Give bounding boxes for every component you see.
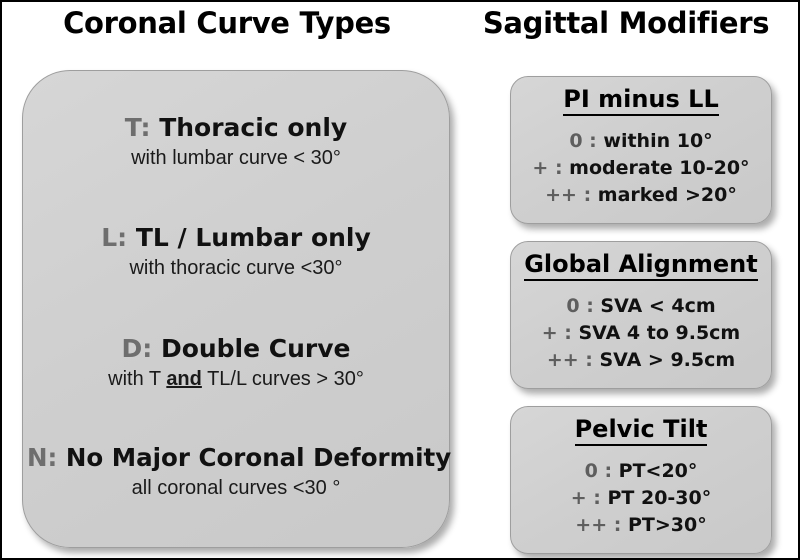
modifier-separator: : <box>583 130 604 152</box>
modifier-grade-value: PT 20-30° <box>607 487 711 509</box>
coronal-curve-item: D: Double Curve with T and TL/L curves >… <box>27 335 445 391</box>
coronal-curve-subtitle-pre: with thoracic curve <30° <box>129 257 342 279</box>
modifier-grade-value: SVA 4 to 9.5cm <box>579 322 741 344</box>
sagittal-modifier-row: ++ : PT>30° <box>517 512 765 539</box>
modifier-grade-value: marked >20° <box>598 184 737 206</box>
modifier-grade-value: PT>30° <box>628 514 707 536</box>
modifier-grade-value: moderate 10-20° <box>569 157 749 179</box>
coronal-curve-title: D: Double Curve <box>27 335 445 362</box>
modifier-separator: : <box>598 460 619 482</box>
coronal-curve-subtitle: with T and TL/L curves > 30° <box>27 369 445 391</box>
coronal-curve-name: Double Curve <box>161 334 351 363</box>
sagittal-modifier-row: + : PT 20-30° <box>517 485 765 512</box>
coronal-curve-subtitle-pre: with lumbar curve < 30° <box>131 147 341 169</box>
coronal-curve-subtitle-emphasis: and <box>166 368 202 390</box>
sagittal-modifier-title: PI minus LL <box>563 85 719 116</box>
coronal-curve-subtitle-post: TL/L curves > 30° <box>202 368 364 390</box>
coronal-curve-item: L: TL / Lumbar only with thoracic curve … <box>27 224 445 280</box>
sagittal-modifier-card-pi-minus-ll: PI minus LL 0 : within 10° + : moderate … <box>510 76 772 224</box>
modifier-separator: : <box>558 322 579 344</box>
modifier-grade-key: ++ <box>545 184 577 206</box>
modifier-grade-key: ++ <box>547 349 579 371</box>
sagittal-modifier-row: + : SVA 4 to 9.5cm <box>517 320 765 347</box>
coronal-curve-subtitle-pre: all coronal curves <30 ° <box>132 477 341 499</box>
modifier-grade-value: within 10° <box>603 130 712 152</box>
coronal-curve-item: N: No Major Coronal Deformity all corona… <box>27 445 445 500</box>
coronal-curve-subtitle: with thoracic curve <30° <box>27 258 445 280</box>
coronal-curve-prefix: D: <box>121 334 152 363</box>
modifier-grade-key: ++ <box>575 514 607 536</box>
modifier-grade-key: + <box>532 157 548 179</box>
coronal-curve-prefix: L: <box>101 223 127 252</box>
coronal-curve-subtitle: with lumbar curve < 30° <box>27 148 445 170</box>
modifier-grade-value: SVA > 9.5cm <box>600 349 736 371</box>
modifier-grade-key: + <box>571 487 587 509</box>
coronal-curve-prefix: N: <box>27 443 57 472</box>
coronal-curve-types-panel: T: Thoracic only with lumbar curve < 30°… <box>22 70 450 548</box>
sagittal-modifier-card-global-alignment: Global Alignment 0 : SVA < 4cm + : SVA 4… <box>510 241 772 389</box>
sagittal-section-heading: Sagittal Modifiers <box>452 6 800 40</box>
modifier-separator: : <box>579 349 600 371</box>
modifier-grade-value: SVA < 4cm <box>600 295 715 317</box>
modifier-separator: : <box>577 184 598 206</box>
modifier-separator: : <box>580 295 601 317</box>
modifier-separator: : <box>587 487 608 509</box>
coronal-curve-item: T: Thoracic only with lumbar curve < 30° <box>27 114 445 170</box>
sagittal-modifier-title: Global Alignment <box>524 250 758 281</box>
coronal-curve-name: Thoracic only <box>159 113 347 142</box>
coronal-curve-title: L: TL / Lumbar only <box>27 224 445 251</box>
modifier-grade-key: 0 <box>585 460 598 482</box>
sagittal-modifier-row: + : moderate 10-20° <box>517 155 765 182</box>
coronal-curve-name: TL / Lumbar only <box>136 223 371 252</box>
slide-canvas: 中南大学湘雅二 中南大学湘雅二 中南大学湘雅二 中南大学湘雅二 中南大学湘雅二 … <box>0 0 800 560</box>
modifier-grade-value: PT<20° <box>619 460 698 482</box>
coronal-curve-title: N: No Major Coronal Deformity <box>27 445 445 471</box>
coronal-curve-subtitle: all coronal curves <30 ° <box>27 478 445 500</box>
coronal-curve-prefix: T: <box>125 113 151 142</box>
modifier-separator: : <box>548 157 569 179</box>
sagittal-modifier-row: ++ : marked >20° <box>517 182 765 209</box>
sagittal-modifier-title: Pelvic Tilt <box>575 415 708 446</box>
modifier-grade-key: 0 <box>566 295 579 317</box>
coronal-curve-title: T: Thoracic only <box>27 114 445 141</box>
sagittal-modifier-row: ++ : SVA > 9.5cm <box>517 347 765 374</box>
sagittal-modifier-row: 0 : SVA < 4cm <box>517 293 765 320</box>
sagittal-modifier-card-pelvic-tilt: Pelvic Tilt 0 : PT<20° + : PT 20-30° ++ … <box>510 406 772 554</box>
modifier-grade-key: 0 <box>569 130 582 152</box>
modifier-separator: : <box>607 514 628 536</box>
sagittal-modifier-row: 0 : PT<20° <box>517 458 765 485</box>
coronal-curve-subtitle-pre: with T <box>108 368 166 390</box>
modifier-grade-key: + <box>542 322 558 344</box>
coronal-section-heading: Coronal Curve Types <box>2 6 452 40</box>
coronal-curve-name: No Major Coronal Deformity <box>66 443 451 472</box>
sagittal-modifier-row: 0 : within 10° <box>517 128 765 155</box>
